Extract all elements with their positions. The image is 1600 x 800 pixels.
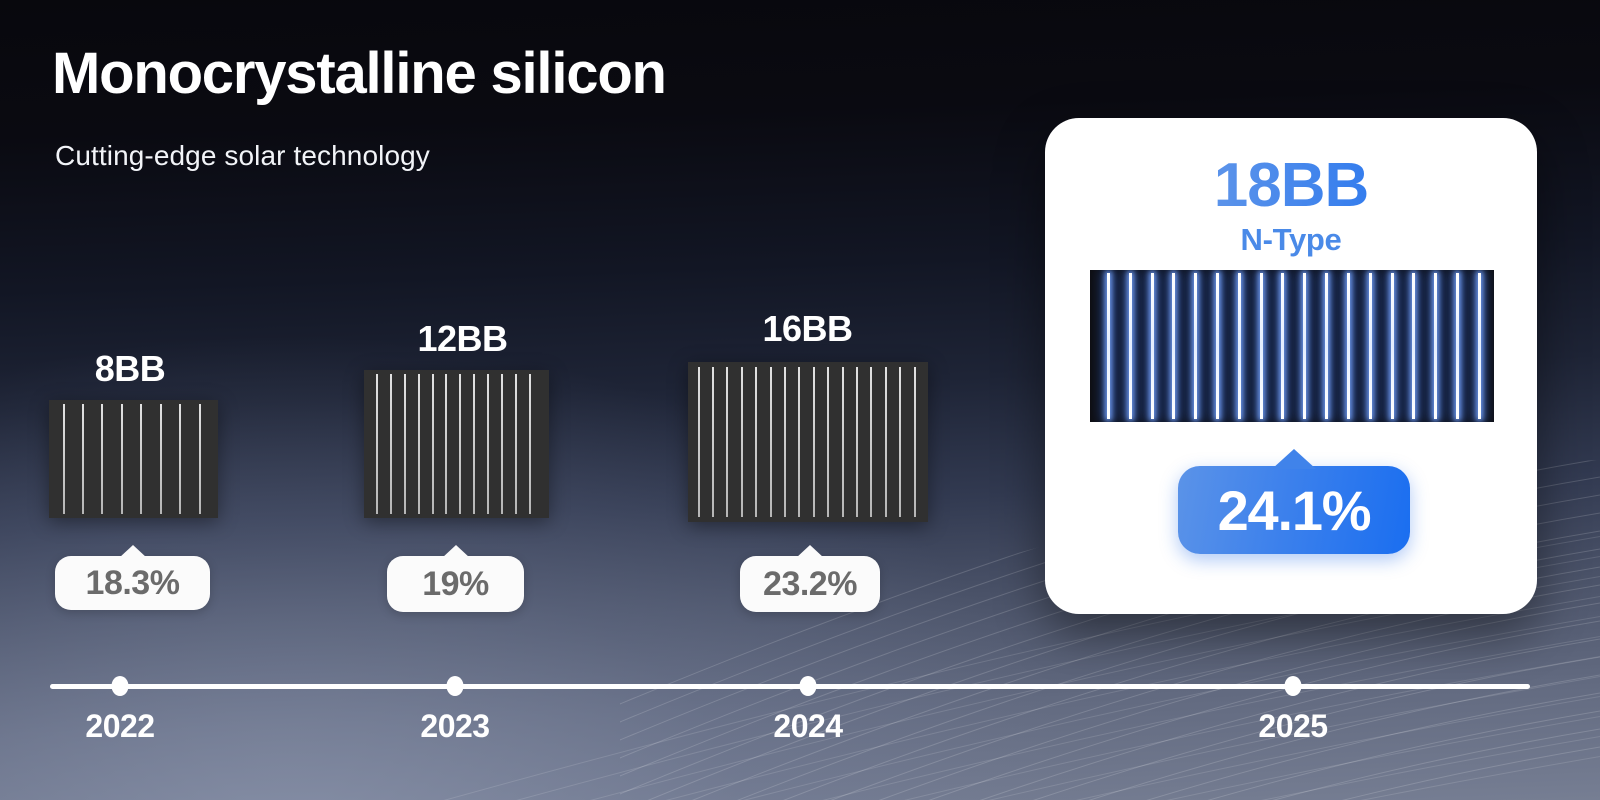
efficiency-badge-12bb: 19% — [387, 556, 524, 612]
timeline-year-2024: 2024 — [773, 708, 842, 745]
cell-group-16bb: 16BB 23.2% — [680, 308, 935, 620]
timeline-year-2023: 2023 — [420, 708, 489, 745]
timeline-dot-2022[interactable] — [112, 676, 129, 696]
efficiency-badge-8bb: 18.3% — [55, 556, 210, 610]
featured-efficiency-badge: 24.1% — [1178, 466, 1410, 554]
efficiency-badge-16bb: 23.2% — [740, 556, 880, 612]
cell-label-16bb: 16BB — [680, 308, 935, 350]
cell-label-8bb: 8BB — [20, 348, 240, 390]
cell-group-12bb: 12BB 19% — [350, 318, 575, 618]
solar-cell-12bb — [364, 370, 549, 518]
solar-cell-16bb — [688, 362, 928, 522]
featured-cell-label: 18BB — [1045, 150, 1537, 221]
timeline-axis — [50, 684, 1530, 689]
timeline-dot-2023[interactable] — [447, 676, 464, 696]
solar-cell-8bb — [49, 400, 218, 518]
timeline-dot-2025[interactable] — [1285, 676, 1302, 696]
featured-type-label: N-Type — [1045, 222, 1537, 258]
cell-group-8bb: 8BB 18.3% — [20, 348, 240, 618]
cell-label-12bb: 12BB — [350, 318, 575, 360]
page-title: Monocrystalline silicon — [52, 44, 666, 105]
featured-solar-cell — [1090, 270, 1494, 422]
infographic-canvas: Monocrystalline silicon Cutting-edge sol… — [0, 0, 1600, 800]
timeline-year-2022: 2022 — [85, 708, 154, 745]
page-subtitle: Cutting-edge solar technology — [55, 140, 430, 172]
timeline-dot-2024[interactable] — [800, 676, 817, 696]
timeline-year-2025: 2025 — [1258, 708, 1327, 745]
featured-card-18bb[interactable]: 18BB N-Type 24.1% — [1045, 118, 1537, 614]
